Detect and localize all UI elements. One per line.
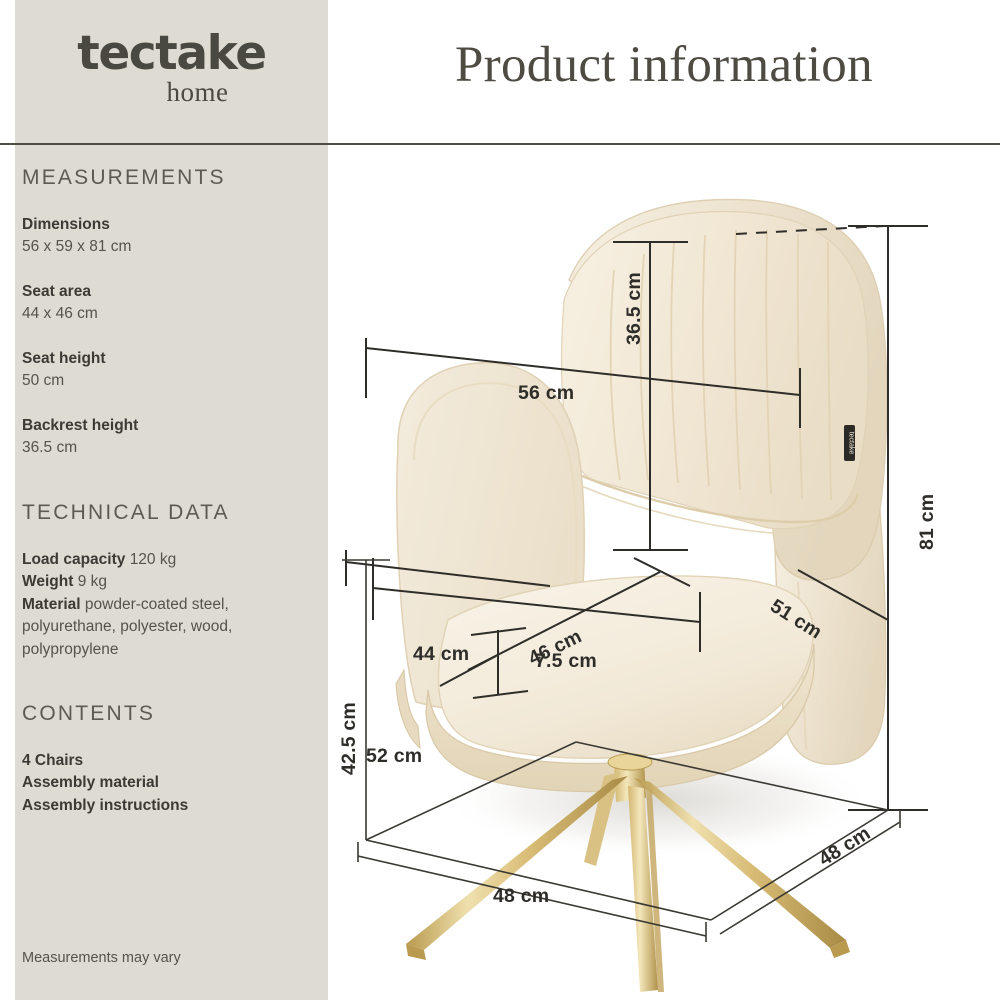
product-diagram: tectake: [328, 150, 1000, 1000]
contents-list: 4 Chairs Assembly material Assembly inst…: [22, 750, 322, 817]
material-label: Material: [22, 596, 81, 613]
list-item: Assembly material: [22, 772, 322, 794]
spec-dimensions: Dimensions 56 x 59 x 81 cm: [22, 214, 322, 259]
list-item: 4 Chairs: [22, 750, 322, 772]
spec-value: 44 x 46 cm: [22, 303, 322, 325]
load-capacity-row: Load capacity 120 kg: [22, 549, 322, 571]
spec-label: Backrest height: [22, 415, 322, 437]
spec-label: Dimensions: [22, 214, 322, 236]
contents-section: CONTENTS: [22, 702, 322, 726]
load-capacity-label: Load capacity: [22, 551, 125, 568]
product-information-sheet: tectake home MEASUREMENTS Dimensions 56 …: [0, 0, 1000, 1000]
dim-label-48cm-front: 48 cm: [493, 885, 549, 908]
spec-value: 56 x 59 x 81 cm: [22, 236, 322, 258]
dim-label-52cm: 52 cm: [366, 745, 422, 768]
chair-illustration: tectake: [328, 150, 1000, 1000]
brand-sub: home: [67, 79, 328, 106]
dim-label-42_5cm: 42.5 cm: [338, 702, 361, 775]
spec-seat-height: Seat height 50 cm: [22, 348, 322, 393]
material-value: powder-coated steel,: [85, 596, 229, 613]
product-tag: tectake: [844, 425, 855, 461]
technical-specs: Load capacity 120 kg Weight 9 kg Materia…: [22, 549, 322, 661]
weight-value: 9 kg: [78, 573, 107, 590]
spec-label: Seat area: [22, 281, 322, 303]
technical-heading: TECHNICAL DATA: [22, 501, 322, 525]
material-line3: polypropylene: [22, 639, 322, 661]
weight-label: Weight: [22, 573, 73, 590]
dim-label-36_5cm: 36.5 cm: [623, 272, 646, 345]
brand-logo: tectake home: [15, 30, 328, 106]
spec-label: Seat height: [22, 348, 322, 370]
spec-backrest-height: Backrest height 36.5 cm: [22, 415, 322, 460]
dim-label-81cm: 81 cm: [916, 494, 939, 550]
material-row: Material powder-coated steel,: [22, 594, 322, 616]
spec-seat-area: Seat area 44 x 46 cm: [22, 281, 322, 326]
dim-label-44cm: 44 cm: [413, 643, 469, 666]
dim-label-56cm: 56 cm: [518, 382, 574, 405]
measurements-heading: MEASUREMENTS: [22, 166, 322, 190]
sidebar-panel: tectake home MEASUREMENTS Dimensions 56 …: [15, 0, 328, 1000]
technical-section: TECHNICAL DATA: [22, 501, 322, 525]
load-capacity-value: 120 kg: [130, 551, 177, 568]
spec-value: 50 cm: [22, 370, 322, 392]
brand-name: tectake: [15, 30, 328, 77]
page-title: Product information: [455, 36, 985, 94]
header-divider: [0, 143, 1000, 145]
dim-label-7_5cm: 7.5 cm: [535, 650, 597, 673]
measurements-section: MEASUREMENTS: [22, 166, 322, 190]
svg-text:tectake: tectake: [848, 432, 855, 455]
contents-heading: CONTENTS: [22, 702, 322, 726]
measurements-disclaimer: Measurements may vary: [22, 950, 181, 966]
list-item: Assembly instructions: [22, 795, 322, 817]
weight-row: Weight 9 kg: [22, 571, 322, 593]
material-line2: polyurethane, polyester, wood,: [22, 616, 322, 638]
spec-value: 36.5 cm: [22, 437, 322, 459]
